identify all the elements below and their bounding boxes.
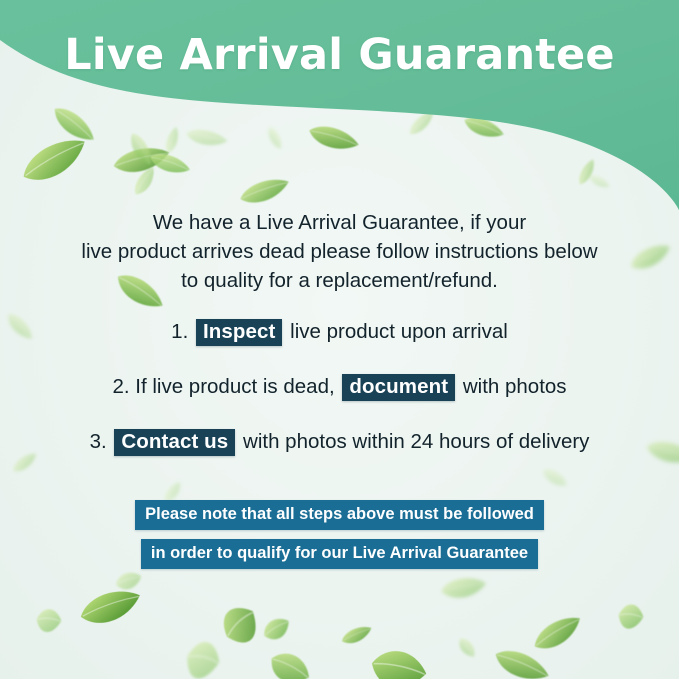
notice-line-1: Please note that all steps above must be… [135,500,544,530]
intro-line-1: We have a Live Arrival Guarantee, if you… [60,208,619,237]
notice-row-2: in order to qualify for our Live Arrival… [0,539,679,569]
poster-content: We have a Live Arrival Guarantee, if you… [0,0,679,679]
step-item-2: 2. If live product is dead, document wit… [0,373,679,401]
step-highlight-contact-us[interactable]: Contact us [114,429,235,456]
step-item-3: 3. Contact us with photos within 24 hour… [0,428,679,456]
notice-block: Please note that all steps above must be… [0,500,679,578]
live-arrival-guarantee-poster: Live Arrival Guarantee We have a Live Ar… [0,0,679,679]
step-item-1: 1. Inspect live product upon arrival [0,318,679,346]
step-text-3: with photos within 24 hours of delivery [243,430,589,453]
intro-paragraph: We have a Live Arrival Guarantee, if you… [60,208,619,295]
steps-list: 1. Inspect live product upon arrival 2. … [0,318,679,483]
step-highlight-document: document [342,374,455,401]
step-text-1: live product upon arrival [290,320,508,343]
step-number-3: 3. [90,430,107,453]
step-number-2: 2. [112,375,129,398]
step-number-1: 1. [171,320,188,343]
step-highlight-inspect: Inspect [196,319,282,346]
notice-line-2: in order to qualify for our Live Arrival… [141,539,538,569]
step-text-2-after: with photos [463,375,567,398]
intro-line-2: live product arrives dead please follow … [60,237,619,266]
notice-row-1: Please note that all steps above must be… [0,500,679,530]
step-text-2-before: If live product is dead, [135,375,334,398]
intro-line-3: to quality for a replacement/refund. [60,266,619,295]
